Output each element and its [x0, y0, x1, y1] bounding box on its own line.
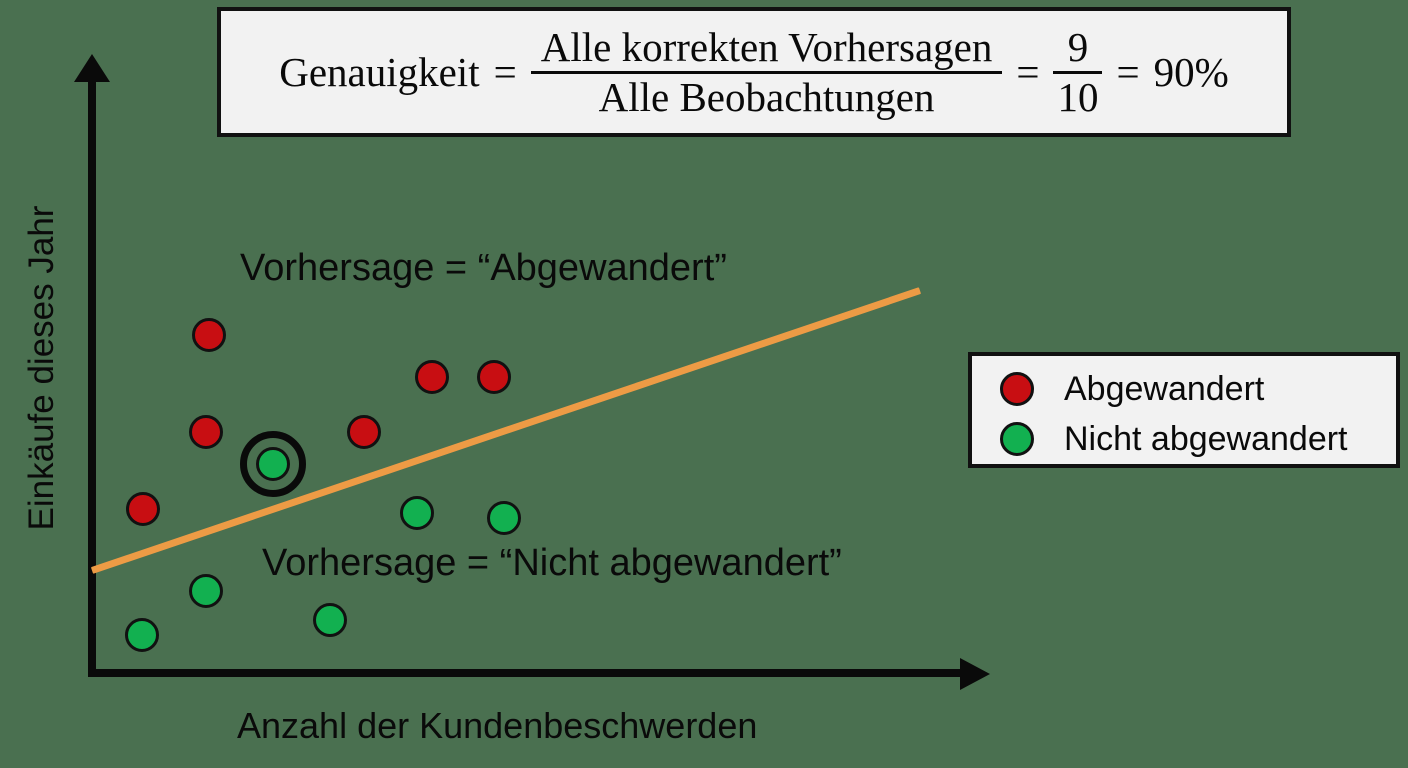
data-point-no-churn[interactable]: [400, 496, 434, 530]
data-point-no-churn[interactable]: [256, 447, 290, 481]
legend-label-no-churn: Nicht abgewandert: [1064, 420, 1348, 459]
legend-item-churn[interactable]: Abgewandert: [1000, 364, 1396, 414]
annotation-predict-no-churn: Vorhersage = “Nicht abgewandert”: [262, 542, 842, 585]
data-point-no-churn[interactable]: [189, 574, 223, 608]
legend-label-churn: Abgewandert: [1064, 370, 1264, 409]
annotation-predict-churn: Vorhersage = “Abgewandert”: [240, 247, 727, 290]
legend: Abgewandert Nicht abgewandert: [968, 352, 1400, 468]
x-axis-line: [88, 669, 968, 677]
data-point-churn[interactable]: [126, 492, 160, 526]
data-point-churn[interactable]: [347, 415, 381, 449]
legend-swatch-no-churn-icon: [1000, 422, 1034, 456]
y-axis-title: Einkäufe dieses Jahr: [22, 138, 62, 598]
y-axis-arrow-icon: [74, 54, 110, 82]
data-point-churn[interactable]: [189, 415, 223, 449]
data-point-no-churn[interactable]: [487, 501, 521, 535]
legend-item-no-churn[interactable]: Nicht abgewandert: [1000, 414, 1396, 464]
data-point-churn[interactable]: [415, 360, 449, 394]
data-point-no-churn[interactable]: [313, 603, 347, 637]
slide-canvas: Genauigkeit = Alle korrekten Vorhersagen…: [0, 0, 1408, 768]
data-point-no-churn[interactable]: [125, 618, 159, 652]
x-axis-arrow-icon: [960, 658, 990, 690]
data-point-churn[interactable]: [192, 318, 226, 352]
x-axis-title: Anzahl der Kundenbeschwerden: [237, 705, 757, 747]
y-axis-line: [88, 75, 96, 675]
legend-swatch-churn-icon: [1000, 372, 1034, 406]
data-point-churn[interactable]: [477, 360, 511, 394]
